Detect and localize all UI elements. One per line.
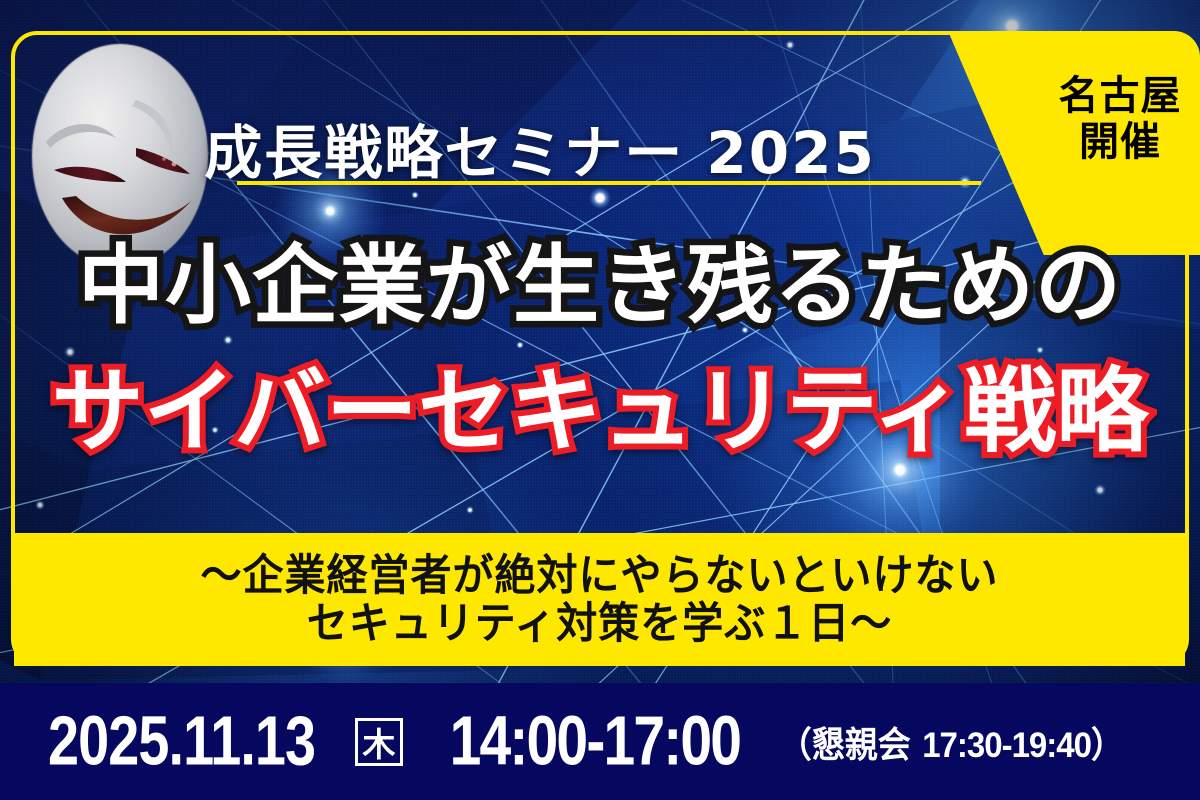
headline-line-2: サイバーセキュリティ戦略 [0, 366, 1200, 458]
schedule-bar: 2025.11.13 木 14:00-17:00 （懇親会 17:30-19:4… [0, 683, 1200, 800]
seminar-title-underline [237, 181, 981, 185]
seminar-poster: 名古屋 開催 成長戦略セミナー 2025 中小企業が生き残るための サイバーセキ… [0, 0, 1200, 800]
seminar-title: 成長戦略セミナー 2025 [0, 106, 1200, 190]
after-party-time: 17:30-19:40 [922, 724, 1091, 764]
event-time: 14:00-17:00 [450, 702, 741, 782]
after-party-open-paren: （懇親会 [779, 723, 923, 765]
event-date: 2025.11.13 [48, 702, 315, 782]
after-party-info: （懇親会 17:30-19:40） [779, 716, 1124, 768]
after-party-close-paren: ） [1091, 723, 1124, 765]
headline-line-1: 中小企業が生き残るための [0, 243, 1200, 329]
subtitle-band: ～企業経営者が絶対にやらないといけない セキュリティ対策を学ぶ１日～ [14, 533, 1185, 666]
subtitle-line-2: セキュリティ対策を学ぶ１日～ [307, 599, 893, 648]
subtitle-line-1: ～企業経営者が絶対にやらないといけない [201, 551, 999, 600]
event-day-of-week: 木 [355, 718, 403, 766]
